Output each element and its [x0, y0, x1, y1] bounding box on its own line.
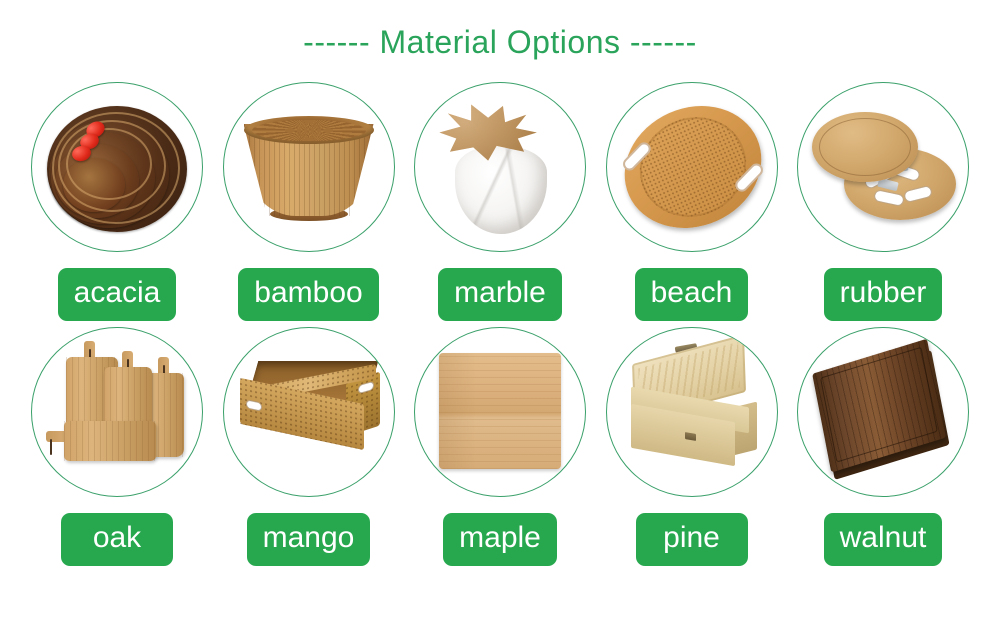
walnut-board-image — [808, 339, 958, 485]
material-row-2: oak mango — [0, 327, 1000, 566]
material-thumb-walnut[interactable] — [797, 327, 969, 497]
material-label-bamboo[interactable]: bamboo — [238, 268, 378, 321]
material-row-1: acacia bamboo — [0, 82, 1000, 321]
material-grid: acacia bamboo — [0, 82, 1000, 572]
material-option-beach[interactable]: beach — [603, 82, 781, 321]
material-thumb-marble[interactable] — [414, 82, 586, 252]
marble-pineapple-board-image — [425, 94, 575, 240]
material-thumb-pine[interactable] — [606, 327, 778, 497]
acacia-plates-image — [42, 94, 192, 240]
material-thumb-bamboo[interactable] — [223, 82, 395, 252]
page-title: ------ Material Options ------ — [0, 24, 1000, 61]
beech-oval-tray-image — [617, 94, 767, 240]
oak-paddle-boards-image — [42, 339, 192, 485]
material-option-walnut[interactable]: walnut — [794, 327, 972, 566]
material-option-rubber[interactable]: rubber — [794, 82, 972, 321]
material-label-rubber[interactable]: rubber — [824, 268, 943, 321]
material-thumb-oak[interactable] — [31, 327, 203, 497]
bamboo-bowl-image — [234, 94, 384, 240]
material-option-mango[interactable]: mango — [220, 327, 398, 566]
material-option-maple[interactable]: maple — [411, 327, 589, 566]
material-label-acacia[interactable]: acacia — [58, 268, 177, 321]
material-thumb-mango[interactable] — [223, 327, 395, 497]
material-thumb-rubber[interactable] — [797, 82, 969, 252]
material-label-mango[interactable]: mango — [247, 513, 371, 566]
material-thumb-maple[interactable] — [414, 327, 586, 497]
material-options-page: ------ Material Options ------ — [0, 0, 1000, 634]
pine-box-image — [617, 339, 767, 485]
material-label-walnut[interactable]: walnut — [824, 513, 943, 566]
material-label-pine[interactable]: pine — [636, 513, 748, 566]
material-option-bamboo[interactable]: bamboo — [220, 82, 398, 321]
material-thumb-acacia[interactable] — [31, 82, 203, 252]
material-label-beach[interactable]: beach — [635, 268, 749, 321]
material-thumb-beach[interactable] — [606, 82, 778, 252]
rubberwood-cheese-board-image — [808, 94, 958, 240]
material-label-oak[interactable]: oak — [61, 513, 173, 566]
material-option-oak[interactable]: oak — [28, 327, 206, 566]
material-label-marble[interactable]: marble — [438, 268, 562, 321]
material-option-pine[interactable]: pine — [603, 327, 781, 566]
material-option-acacia[interactable]: acacia — [28, 82, 206, 321]
material-option-marble[interactable]: marble — [411, 82, 589, 321]
mango-tray-image — [234, 339, 384, 485]
maple-cutting-board-image — [425, 339, 575, 485]
material-label-maple[interactable]: maple — [443, 513, 557, 566]
